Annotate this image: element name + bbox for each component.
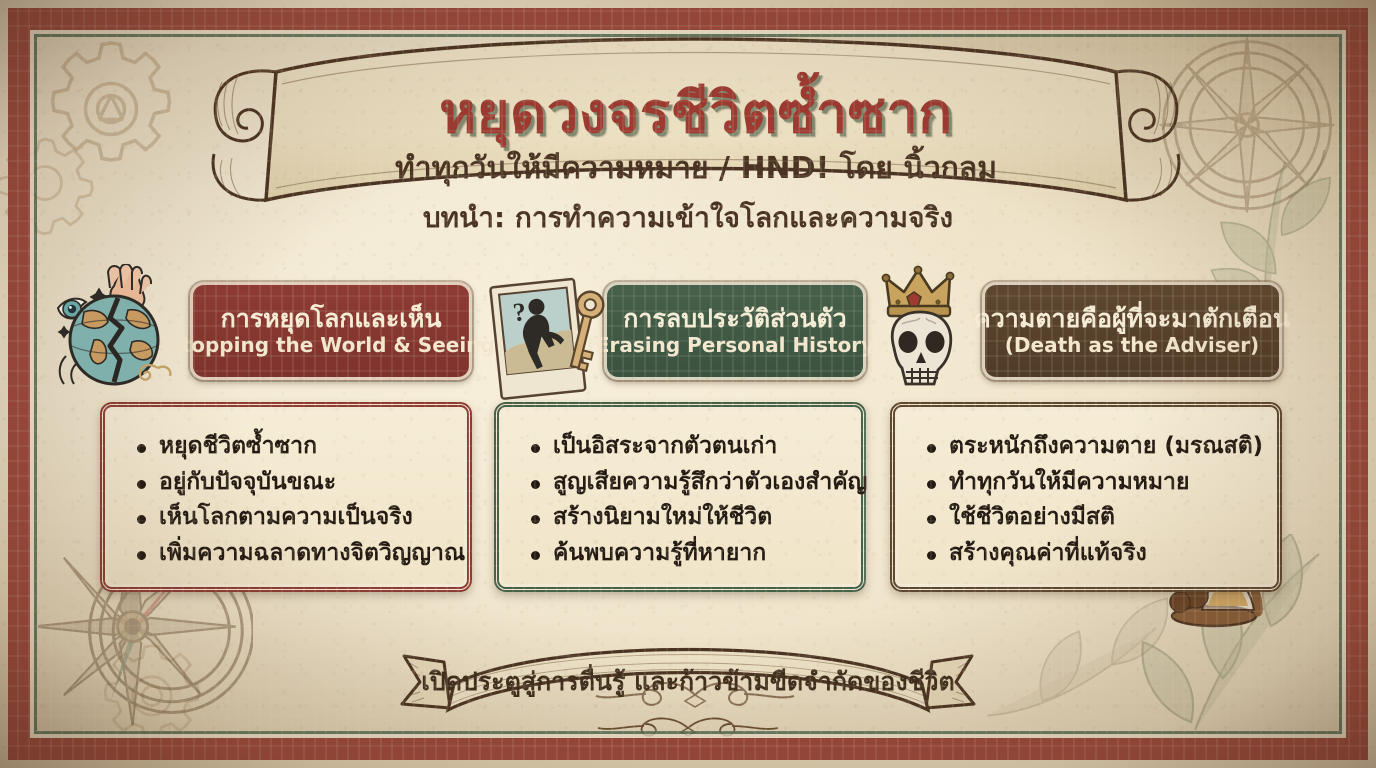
infographic-poster: หยุดวงจรชีวิตซ้ำซาก ทำทุกวันให้มีความหมา…	[0, 0, 1376, 768]
cracked-globe-with-eye-and-hand-icon	[52, 264, 182, 394]
photo-with-walking-figure-and-key-icon: ?	[486, 274, 616, 404]
crowned-skull-icon	[880, 262, 1002, 392]
outer-red-frame	[8, 8, 1368, 760]
